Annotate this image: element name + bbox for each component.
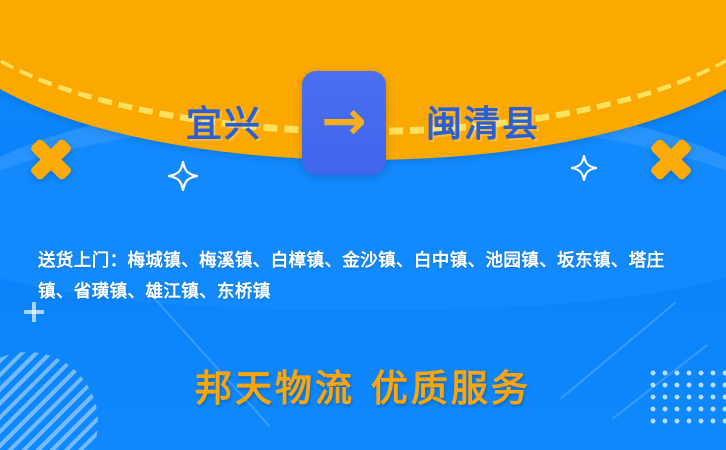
x-cross-icon-right — [648, 136, 694, 182]
logistics-route-banner: 宜兴 → 闽清县 送货上门：梅城镇、梅溪镇、白樟镇、金沙镇、白中镇、池园镇、坂东… — [0, 0, 726, 450]
route-arrow-button[interactable]: → — [302, 71, 386, 175]
sparkle-icon-right — [571, 155, 601, 185]
right-arrow-icon: → — [321, 94, 366, 148]
delivery-coverage-text: 送货上门：梅城镇、梅溪镇、白樟镇、金沙镇、白中镇、池园镇、坂东镇、塔庄镇、省璜镇… — [38, 246, 698, 308]
company-slogan: 邦天物流 优质服务 — [0, 358, 726, 412]
origin-city-label: 宜兴 — [186, 95, 262, 147]
route-title-row: 宜兴 → 闽清县 — [0, 82, 726, 160]
x-cross-icon-left — [28, 136, 74, 182]
sparkle-icon-left — [168, 161, 198, 191]
destination-city-label: 闽清县 — [426, 95, 540, 147]
